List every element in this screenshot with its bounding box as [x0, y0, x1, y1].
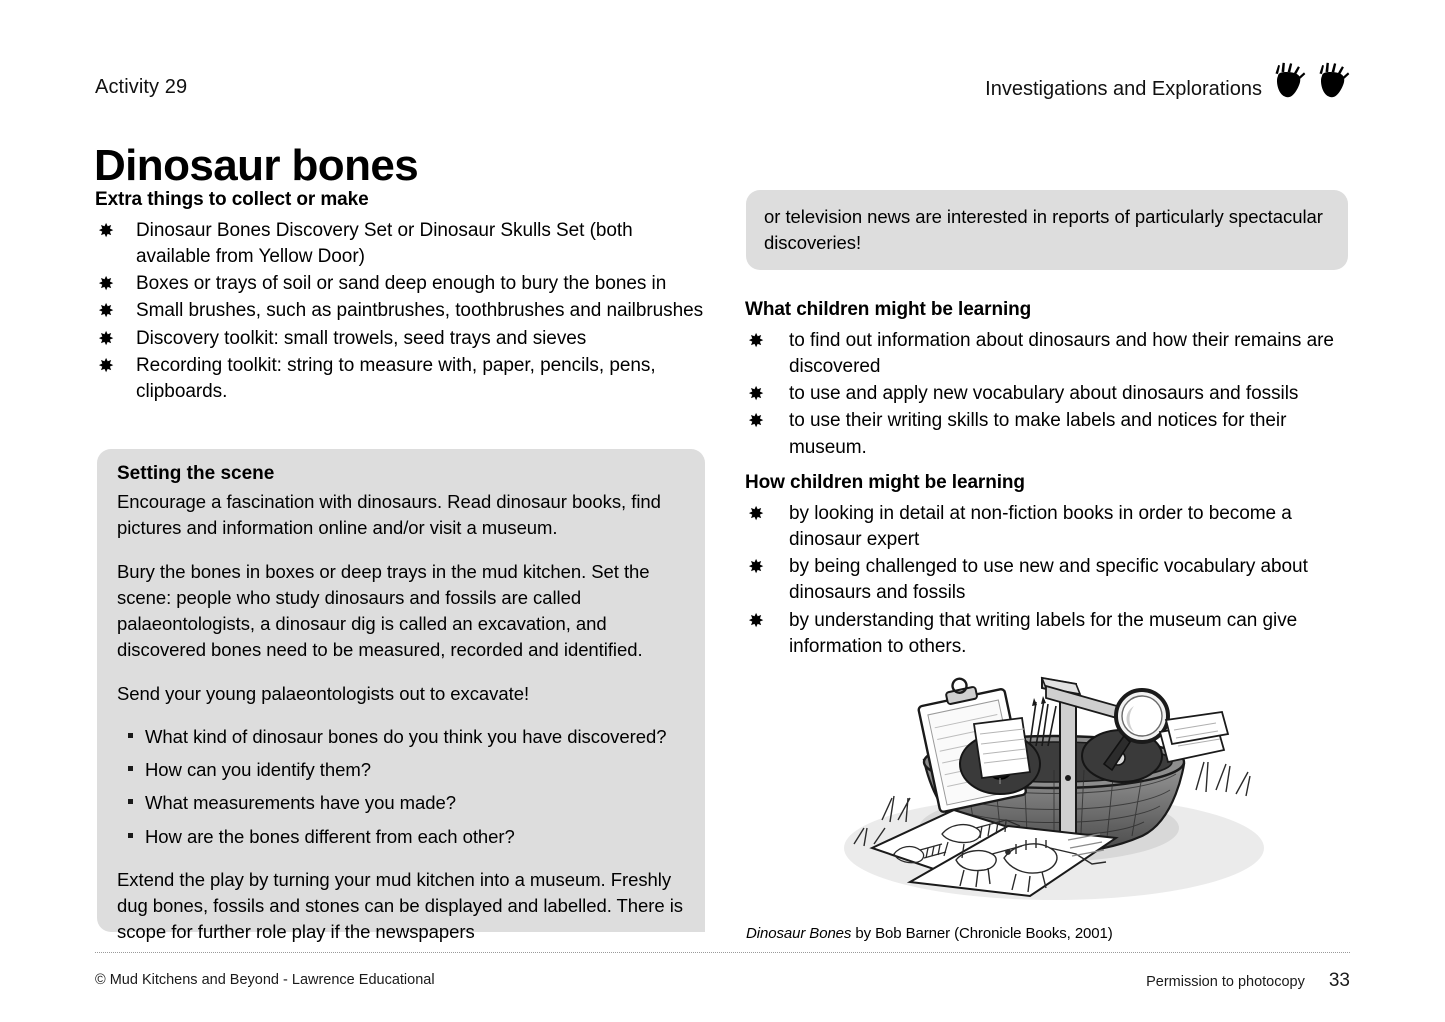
list-item: ✸ by understanding that writing labels f… — [745, 608, 1355, 660]
star-bullet-icon: ✸ — [95, 219, 117, 245]
materials-heading: Extra things to collect or make — [95, 188, 705, 212]
star-bullet-icon: ✸ — [95, 354, 117, 380]
list-item: What kind of dinosaur bones do you think… — [117, 724, 683, 750]
list-item-label: by looking in detail at non-fiction book… — [789, 503, 1292, 550]
panel-paragraph: Extend the play by turning your mud kitc… — [117, 867, 683, 946]
star-bullet-icon: ✸ — [95, 327, 117, 353]
star-bullet-icon: ✸ — [95, 272, 117, 298]
list-item: ✸ Dinosaur Bones Discovery Set or Dinosa… — [95, 218, 705, 270]
panel-paragraph: Send your young palaeontologists out to … — [117, 681, 683, 707]
list-item: What measurements have you made? — [117, 790, 683, 816]
list-item-label: Boxes or trays of soil or sand deep enou… — [136, 273, 666, 294]
continuation-panel: or television news are interested in rep… — [746, 190, 1348, 270]
list-item-label: What measurements have you made? — [145, 792, 456, 813]
list-item: ✸ by looking in detail at non-fiction bo… — [745, 501, 1355, 553]
list-item-label: to use their writing skills to make labe… — [789, 410, 1286, 457]
footer-copyright: © Mud Kitchens and Beyond - Lawrence Edu… — [95, 972, 435, 988]
panel-paragraph: Bury the bones in boxes or deep trays in… — [117, 559, 683, 664]
square-bullet-icon — [128, 733, 133, 738]
what-learning-list: ✸ to find out information about dinosaur… — [745, 328, 1355, 461]
panel-content: Setting the scene Encourage a fascinatio… — [117, 463, 683, 946]
star-bullet-icon: ✸ — [745, 555, 767, 581]
square-bullet-icon — [128, 799, 133, 804]
activity-label: Activity 29 — [95, 76, 187, 99]
star-bullet-icon: ✸ — [745, 329, 767, 355]
star-bullet-icon: ✸ — [745, 502, 767, 528]
illustration-caption: Dinosaur Bones by Bob Barner (Chronicle … — [746, 925, 1113, 942]
list-item-label: What kind of dinosaur bones do you think… — [145, 726, 666, 747]
how-learning-section: How children might be learning ✸ by look… — [745, 471, 1355, 661]
star-bullet-icon: ✸ — [745, 382, 767, 408]
list-item: ✸ to find out information about dinosaur… — [745, 328, 1355, 380]
square-bullet-icon — [128, 766, 133, 771]
list-item: ✸ Recording toolkit: string to measure w… — [95, 353, 705, 405]
list-item-label: by being challenged to use new and speci… — [789, 556, 1308, 603]
list-item: ✸ to use and apply new vocabulary about … — [745, 381, 1355, 407]
how-learning-heading: How children might be learning — [745, 471, 1355, 495]
list-item-label: How can you identify them? — [145, 759, 371, 780]
page-number: 33 — [1329, 970, 1350, 992]
list-item: ✸ Discovery toolkit: small trowels, seed… — [95, 326, 705, 352]
star-bullet-icon: ✸ — [745, 409, 767, 435]
star-bullet-icon: ✸ — [95, 299, 117, 325]
list-item: How are the bones different from each ot… — [117, 824, 683, 850]
right-column: What children might be learning ✸ to fin… — [745, 298, 1355, 462]
hand-print-icon — [1272, 62, 1306, 103]
footer-divider — [95, 952, 1350, 953]
scene-questions-list: What kind of dinosaur bones do you think… — [117, 724, 683, 850]
list-item: How can you identify them? — [117, 757, 683, 783]
caption-attribution: by Bob Barner (Chronicle Books, 2001) — [851, 925, 1112, 942]
list-item-label: by understanding that writing labels for… — [789, 610, 1297, 657]
page-header: Activity 29 Investigations and Explorati… — [95, 76, 1350, 112]
materials-list: ✸ Dinosaur Bones Discovery Set or Dinosa… — [95, 218, 705, 406]
list-item-label: to find out information about dinosaurs … — [789, 330, 1334, 377]
list-item: ✸ Boxes or trays of soil or sand deep en… — [95, 271, 705, 297]
left-column: Extra things to collect or make ✸ Dinosa… — [95, 188, 705, 406]
square-bullet-icon — [128, 833, 133, 838]
list-item-label: Dinosaur Bones Discovery Set or Dinosaur… — [136, 220, 633, 267]
document-page: Activity 29 Investigations and Explorati… — [0, 0, 1445, 1022]
panel-paragraph: or television news are interested in rep… — [764, 204, 1324, 257]
setting-the-scene-panel: Setting the scene Encourage a fascinatio… — [97, 449, 705, 932]
footer-right-group: Permission to photocopy 33 — [1146, 970, 1350, 992]
panel-heading: Setting the scene — [117, 463, 683, 485]
list-item-label: Recording toolkit: string to measure wit… — [136, 355, 656, 402]
page-title: Dinosaur bones — [94, 143, 418, 189]
panel-paragraph: Encourage a fascination with dinosaurs. … — [117, 489, 683, 542]
list-item-label: Small brushes, such as paintbrushes, too… — [136, 300, 703, 321]
list-item: ✸ by being challenged to use new and spe… — [745, 554, 1355, 606]
star-bullet-icon: ✸ — [745, 609, 767, 635]
list-item: ✸ Small brushes, such as paintbrushes, t… — [95, 298, 705, 324]
hand-print-icon — [1316, 62, 1350, 103]
list-item-label: Discovery toolkit: small trowels, seed t… — [136, 328, 586, 349]
panel-content: or television news are interested in rep… — [764, 204, 1324, 257]
what-learning-heading: What children might be learning — [745, 298, 1355, 322]
strand-label: Investigations and Explorations — [985, 64, 1262, 101]
how-learning-list: ✸ by looking in detail at non-fiction bo… — [745, 501, 1355, 660]
list-item-label: to use and apply new vocabulary about di… — [789, 383, 1298, 404]
list-item: ✸ to use their writing skills to make la… — [745, 408, 1355, 460]
footer-permission-note: Permission to photocopy — [1146, 974, 1305, 990]
list-item-label: How are the bones different from each ot… — [145, 826, 515, 847]
strand-header: Investigations and Explorations — [985, 62, 1350, 103]
trug-basket-illustration — [824, 668, 1268, 910]
caption-book-title: Dinosaur Bones — [746, 925, 851, 942]
